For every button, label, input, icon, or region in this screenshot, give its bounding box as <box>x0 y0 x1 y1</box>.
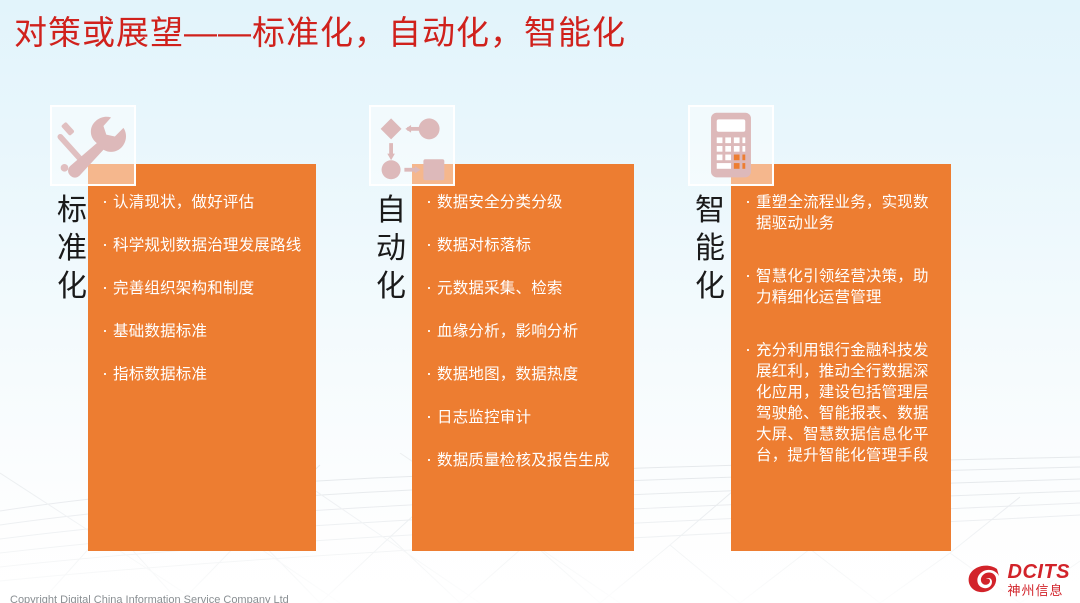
bullet-item: 数据质量检核及报告生成 <box>426 450 620 471</box>
label-char: 自 <box>371 192 411 230</box>
bullet-list-standardization: 认清现状，做好评估 科学规划数据治理发展路线 完善组织架构和制度 基础数据标准 … <box>102 192 302 385</box>
bullet-item: 数据对标落标 <box>426 235 620 256</box>
column-label-standardization: 标 准 化 <box>52 192 92 306</box>
label-char: 化 <box>690 268 730 306</box>
panel-standardization: 认清现状，做好评估 科学规划数据治理发展路线 完善组织架构和制度 基础数据标准 … <box>88 164 316 551</box>
bullet-item: 数据地图，数据热度 <box>426 364 620 385</box>
copyright-text: Copyright Digital China Information Serv… <box>10 594 289 603</box>
label-char: 动 <box>371 230 411 268</box>
bullet-item: 日志监控审计 <box>426 407 620 428</box>
column-label-automation: 自 动 化 <box>371 192 411 306</box>
label-char: 准 <box>52 230 92 268</box>
dcits-swoosh-icon <box>967 565 1001 595</box>
bullet-item: 指标数据标准 <box>102 364 302 385</box>
workflow-flowchart-icon <box>371 107 453 184</box>
bullet-item: 血缘分析，影响分析 <box>426 321 620 342</box>
bullet-item: 元数据采集、检索 <box>426 278 620 299</box>
tools-icon-box <box>50 105 136 186</box>
calculator-icon-box <box>688 105 774 186</box>
label-char: 化 <box>371 268 411 306</box>
logo-english-text: DCITS <box>1008 562 1071 582</box>
bullet-item: 科学规划数据治理发展路线 <box>102 235 302 256</box>
company-logo: DCITS 神州信息 <box>967 562 1071 597</box>
page-title: 对策或展望——标准化，自动化，智能化 <box>14 10 626 56</box>
calculator-icon <box>690 107 772 184</box>
tools-wrench-screwdriver-icon <box>52 107 134 184</box>
label-char: 标 <box>52 192 92 230</box>
bullet-item: 数据安全分类分级 <box>426 192 620 213</box>
bullet-item: 完善组织架构和制度 <box>102 278 302 299</box>
column-label-intelligence: 智 能 化 <box>690 192 730 306</box>
bullet-list-intelligence: 重塑全流程业务，实现数据驱动业务 智慧化引领经营决策，助力精细化运营管理 充分利… <box>745 192 937 466</box>
slide-canvas: 对策或展望——标准化，自动化，智能化 标 准 化 <box>0 0 1080 603</box>
bullet-list-automation: 数据安全分类分级 数据对标落标 元数据采集、检索 血缘分析，影响分析 数据地图，… <box>426 192 620 471</box>
panel-intelligence: 重塑全流程业务，实现数据驱动业务 智慧化引领经营决策，助力精细化运营管理 充分利… <box>731 164 951 551</box>
label-char: 智 <box>690 192 730 230</box>
bullet-item: 基础数据标准 <box>102 321 302 342</box>
label-char: 能 <box>690 230 730 268</box>
label-char: 化 <box>52 268 92 306</box>
bullet-item: 认清现状，做好评估 <box>102 192 302 213</box>
logo-wordmark: DCITS 神州信息 <box>1008 562 1071 597</box>
logo-chinese-text: 神州信息 <box>1008 584 1071 597</box>
bullet-item: 重塑全流程业务，实现数据驱动业务 <box>745 192 937 234</box>
bullet-item: 充分利用银行金融科技发展红利，推动全行数据深化应用，建设包括管理层驾驶舱、智能报… <box>745 340 937 466</box>
bullet-item: 智慧化引领经营决策，助力精细化运营管理 <box>745 266 937 308</box>
workflow-icon-box <box>369 105 455 186</box>
panel-automation: 数据安全分类分级 数据对标落标 元数据采集、检索 血缘分析，影响分析 数据地图，… <box>412 164 634 551</box>
